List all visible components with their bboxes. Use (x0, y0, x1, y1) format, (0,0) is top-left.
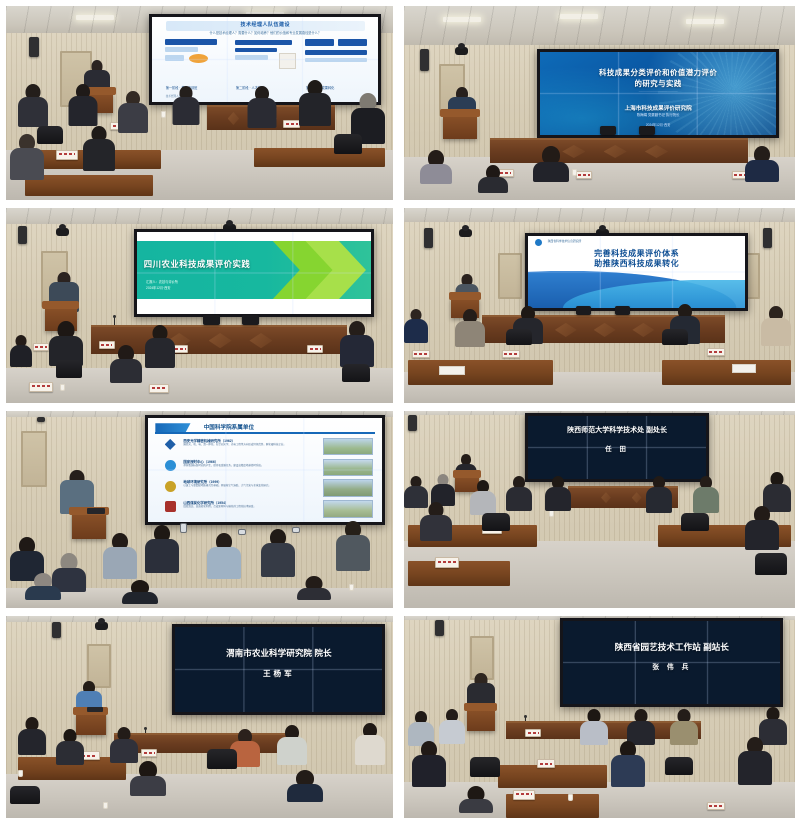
slide-speaker-name: 任 田 (535, 444, 699, 453)
panel-7-photo: 渭南市农业科学研究院 院长 王杨军 (6, 616, 393, 818)
institute-icon (165, 460, 176, 471)
cup (60, 384, 65, 391)
list-item: 西安光学精密机械研究所（1962） 围绕光、机、电、算一体化，在空间光学、光电工… (165, 438, 373, 457)
slide-title: 技术经理人队伍建设 (161, 22, 369, 28)
panel-5-room: 中国科学院系属单位 西安光学精密机械研究所（1962） 围绕光、机、电、算一体化… (6, 411, 393, 608)
nameplate (707, 802, 725, 810)
panel-3-photo: 四川农业科技成果评价实践 汇报人：农技与评价所 2024年12月·西安 (6, 208, 393, 403)
desk-row (498, 765, 607, 787)
phone (292, 527, 300, 533)
list-item-desc: 以黄土与第四纪地质研究为基础，开展粉尘气溶胶、大气污染与全球变化研究。 (183, 484, 318, 488)
nameplate (412, 350, 430, 358)
audience-member (18, 717, 46, 753)
audience-member (340, 321, 374, 365)
cup (103, 802, 108, 809)
panel-1-room: 技术经理人队伍建设 什么是技术经理人？需要什么？如何培养？他们的价值和专业发展路… (6, 6, 393, 200)
slide-title: 四川农业科技成果评价实践 (144, 259, 324, 270)
nameplate (525, 729, 541, 737)
audience-member (693, 476, 719, 510)
panel-3-room: 四川农业科技成果评价实践 汇报人：农技与评价所 2024年12月·西安 (6, 208, 393, 403)
camera-icon (95, 622, 108, 630)
audience-member (412, 741, 446, 783)
collage-cell-4[interactable]: 陕西省科学技术信息研究所 完善科技成果评价体系 助推陕西科技成果转化 (398, 202, 800, 405)
audience-member (355, 723, 385, 763)
slide-speaker-name: 王杨军 (184, 668, 374, 679)
slide-presenter: 陈梅娟 党委副书记 执行院长 (554, 113, 762, 118)
wall-speaker-icon (420, 49, 429, 71)
wall-speaker-icon (52, 622, 61, 638)
slide-header-bar: 中国科学院系属单位 (155, 422, 375, 433)
audience-member (670, 709, 698, 743)
collage-cell-3[interactable]: 四川农业科技成果评价实践 汇报人：农技与评价所 2024年12月·西安 (0, 202, 398, 405)
collage-cell-6[interactable]: 陕西师范大学科学技术处 副处长 任 田 (398, 405, 800, 610)
audience-member (10, 537, 44, 577)
audience-member (580, 709, 608, 743)
wall-speaker-icon (408, 415, 417, 431)
photo-collage: 技术经理人队伍建设 什么是技术经理人？需要什么？如何培养？他们的价值和专业发展路… (0, 0, 800, 820)
audience-member (103, 533, 137, 577)
institute-icon (165, 501, 176, 512)
audience-member (745, 506, 779, 546)
panel-2-video-wall: 科技成果分类评价和价值潜力评价 的研究与实践 ——————————————— 上… (537, 49, 779, 138)
audience-member (10, 335, 32, 365)
panel-4-video-wall: 陕西省科学技术信息研究所 完善科技成果评价体系 助推陕西科技成果转化 (525, 233, 748, 311)
wall-speaker-icon (435, 620, 444, 636)
desk-monitor (203, 315, 220, 325)
floor (6, 774, 393, 818)
nameplate (29, 382, 53, 392)
nameplate (149, 384, 169, 393)
panel-7-video-wall: 渭南市农业科学研究院 院长 王杨军 (172, 624, 385, 715)
nameplate (707, 348, 725, 356)
audience-member (18, 84, 48, 124)
camera-icon (459, 229, 472, 237)
head-table (490, 138, 748, 163)
audience-member (49, 321, 83, 363)
camera-icon (56, 228, 69, 236)
podium (467, 709, 495, 731)
panel-8-video-wall: 陕西省园艺技术工作站 副站长 张 伟 兵 (560, 618, 783, 707)
nameplate (307, 345, 323, 353)
desk-monitor (242, 315, 259, 325)
slide-speaker-name: 张 伟 兵 (572, 661, 772, 671)
audience-member (207, 533, 241, 577)
audience-member (545, 476, 571, 508)
institute-photo (323, 500, 373, 517)
desk-monitor (600, 126, 616, 135)
desk-monitor (639, 126, 655, 135)
desk-row (254, 148, 386, 167)
audience-member (299, 80, 331, 124)
audience-member (431, 474, 455, 504)
chair (56, 360, 82, 378)
audience-member (277, 725, 307, 763)
audience-member (110, 727, 138, 761)
institute-icon (165, 439, 176, 450)
slide-subtitle-line-1: 汇报人：农技与评价所 (146, 280, 254, 284)
panel-3-video-wall: 四川农业科技成果评价实践 汇报人：农技与评价所 2024年12月·西安 (134, 229, 374, 317)
institute-photo (323, 438, 373, 455)
podium (443, 115, 477, 139)
audience-member (533, 146, 569, 178)
list-item-desc: 煤炭清洁、高效转化利用，合成新材料与催化剂工程化技术研发。 (183, 505, 318, 509)
audience-member (56, 729, 84, 763)
slide-title-sh-institute: 科技成果分类评价和价值潜力评价 的研究与实践 ——————————————— 上… (540, 52, 776, 135)
audience-member (404, 309, 428, 343)
list-item-desc: 承担我国标准时间的产生、保持和发播任务，建设高精度地基授时系统。 (183, 464, 318, 468)
slide-title-line-2: 的研究与实践 (549, 79, 767, 88)
slide-speaker-intro: 渭南市农业科学研究院 院长 王杨军 (175, 627, 382, 712)
panel-4-photo: 陕西省科学技术信息研究所 完善科技成果评价体系 助推陕西科技成果转化 (404, 208, 795, 403)
chair (681, 513, 709, 531)
slide-micro-line: ——————————————— (554, 90, 762, 94)
list-item-desc: 围绕光、机、电、算一体化，在空间光学、光电工程等方向形成特色优势，孵化硬科技企业… (183, 443, 318, 447)
wall-speaker-icon (37, 417, 45, 422)
audience-member (261, 529, 295, 575)
camera-icon (455, 47, 468, 55)
nameplate (283, 120, 300, 128)
audience-member (287, 770, 323, 800)
audience-member (110, 345, 142, 379)
slide-org-title: 陕西省园艺技术工作站 副站长 (576, 641, 767, 653)
laptop (87, 508, 105, 514)
nameplate (56, 150, 78, 160)
list-item: 地球环境研究所（1999） 以黄土与第四纪地质研究为基础，开展粉尘气溶胶、大气污… (165, 479, 373, 498)
panel-2-room: 科技成果分类评价和价值潜力评价 的研究与实践 ——————————————— 上… (404, 6, 795, 200)
audience-member (627, 709, 655, 743)
slide-org-title: 渭南市农业科学研究院 院长 (188, 647, 370, 659)
audience-member (297, 576, 331, 598)
audience-member (172, 86, 200, 124)
desk-monitor (576, 306, 591, 315)
panel-6-room: 陕西师范大学科学技术处 副处长 任 田 (404, 411, 795, 608)
door (21, 431, 47, 487)
chair (10, 786, 40, 804)
audience-member (122, 580, 158, 600)
cup (572, 169, 577, 176)
audience-member (408, 711, 434, 743)
slide-speaker-intro: 陕西师范大学科学技术处 副处长 任 田 (528, 416, 706, 479)
audience-member (25, 573, 61, 597)
audience-member (455, 309, 485, 345)
nameplate (435, 557, 459, 568)
collage-cell-5[interactable]: 中国科学院系属单位 西安光学精密机械研究所（1962） 围绕光、机、电、算一体化… (0, 405, 398, 610)
collage-cell-8[interactable]: 陕西省园艺技术工作站 副站长 张 伟 兵 (398, 610, 800, 820)
chair (755, 553, 787, 575)
slide-date: 2024年12月·西安 (554, 122, 762, 127)
chair (506, 329, 532, 345)
slide-org-title: 陕西师范大学科学技术处 副处长 (539, 425, 695, 435)
phone (180, 523, 187, 533)
document (732, 364, 756, 373)
panel-7-room: 渭南市农业科学研究院 院长 王杨军 (6, 616, 393, 818)
chair (342, 364, 370, 382)
audience-member (646, 476, 672, 510)
podium (72, 513, 106, 539)
panel-8-room: 陕西省园艺技术工作站 副站长 张 伟 兵 (404, 616, 795, 818)
cup (568, 794, 573, 801)
audience-member (611, 741, 645, 783)
cup (18, 770, 23, 777)
audience-member (506, 476, 532, 508)
document (439, 366, 465, 375)
audience-member (459, 786, 493, 810)
slide-org: 上海市科技成果评价研究院 (554, 104, 762, 112)
nameplate (513, 790, 535, 800)
audience-member (745, 146, 779, 178)
audience-member (145, 325, 175, 367)
panel-2-photo: 科技成果分类评价和价值潜力评价 的研究与实践 ——————————————— 上… (404, 6, 795, 200)
chair (334, 134, 362, 154)
desk-row (25, 175, 153, 196)
slide-title-line-1: 科技成果分类评价和价值潜力评价 (549, 68, 767, 77)
cup (161, 111, 166, 118)
slide-header-org: 陕西省科学技术信息研究所 (548, 239, 582, 243)
audience-member (118, 91, 148, 131)
audience-member (738, 737, 772, 781)
audience-member (470, 480, 496, 512)
audience-member (336, 521, 370, 569)
audience-member (439, 709, 465, 741)
chair (207, 749, 237, 769)
panel-1-photo: 技术经理人队伍建设 什么是技术经理人？需要什么？如何培养？他们的价值和专业发展路… (6, 6, 393, 200)
panel-6-photo: 陕西师范大学科学技术处 副处长 任 田 (404, 411, 795, 608)
institute-icon (165, 481, 176, 492)
panel-4-room: 陕西省科学技术信息研究所 完善科技成果评价体系 助推陕西科技成果转化 (404, 208, 795, 403)
wall-speaker-icon (29, 37, 39, 57)
chair (37, 126, 63, 144)
collage-cell-7[interactable]: 渭南市农业科学研究院 院长 王杨军 (0, 610, 398, 820)
institute-photo (323, 459, 373, 476)
audience-member (761, 306, 791, 344)
nameplate (141, 749, 157, 757)
slide-subtitle-line-2: 2024年12月·西安 (146, 286, 254, 290)
nameplate (502, 350, 520, 358)
microphone-icon (114, 317, 115, 325)
panel-8-photo: 陕西省园艺技术工作站 副站长 张 伟 兵 (404, 616, 795, 818)
slide-speaker-intro: 陕西省园艺技术工作站 副站长 张 伟 兵 (563, 621, 780, 704)
phone (238, 529, 246, 535)
slide-header-text: 中国科学院系属单位 (204, 423, 254, 431)
desk-row (408, 360, 553, 385)
audience-member (247, 86, 277, 126)
slide-cas-institutes: 中国科学院系属单位 西安光学精密机械研究所（1962） 围绕光、机、电、算一体化… (148, 418, 382, 522)
audience-member (420, 150, 452, 180)
audience-member (763, 472, 791, 510)
audience-member (420, 502, 452, 538)
laptop (87, 707, 103, 712)
wall-speaker-icon (18, 226, 27, 244)
institute-photo (323, 479, 373, 496)
slide-title-line-1: 完善科技成果评价体系 (537, 249, 737, 259)
nameplate (33, 343, 49, 351)
slide-title-line-2: 助推陕西科技成果转化 (537, 259, 737, 269)
panel-5-photo: 中国科学院系属单位 西安光学精密机械研究所（1962） 围绕光、机、电、算一体化… (6, 411, 393, 608)
door (498, 253, 522, 299)
audience-member (145, 525, 179, 571)
panel-6-video-wall: 陕西师范大学科学技术处 副处长 任 田 (525, 413, 709, 482)
wall-speaker-icon (424, 228, 433, 248)
nameplate (537, 759, 555, 768)
chair (470, 757, 500, 777)
list-item: 国家授时中心（1966） 承担我国标准时间的产生、保持和发播任务，建设高精度地基… (165, 459, 373, 478)
desk-monitor (615, 306, 630, 315)
chair (665, 757, 693, 775)
audience-member (478, 165, 508, 189)
chair (662, 329, 688, 345)
audience-member (83, 126, 115, 170)
panel-5-video-wall: 中国科学院系属单位 西安光学精密机械研究所（1962） 围绕光、机、电、算一体化… (145, 415, 385, 525)
wall-speaker-icon (763, 228, 772, 248)
collage-cell-2[interactable]: 科技成果分类评价和价值潜力评价 的研究与实践 ——————————————— 上… (398, 0, 800, 202)
nameplate (576, 171, 592, 179)
slide-sichuan-agri: 四川农业科技成果评价实践 汇报人：农技与评价所 2024年12月·西安 (137, 232, 371, 314)
collage-cell-1[interactable]: 技术经理人队伍建设 什么是技术经理人？需要什么？如何培养？他们的价值和专业发展路… (0, 0, 398, 202)
desk-row (662, 360, 791, 385)
slide-shaanxi-system: 陕西省科学技术信息研究所 完善科技成果评价体系 助推陕西科技成果转化 (528, 236, 745, 308)
audience-member (130, 761, 166, 793)
audience-member (68, 84, 98, 124)
chair (482, 513, 510, 531)
list-item: 山西煤炭化学研究所（1954） 煤炭清洁、高效转化利用，合成新材料与催化剂工程化… (165, 500, 373, 519)
slide-subtitle: 什么是技术经理人？需要什么？如何培养？他们的价值和专业发展路径是什么？ (166, 31, 365, 35)
